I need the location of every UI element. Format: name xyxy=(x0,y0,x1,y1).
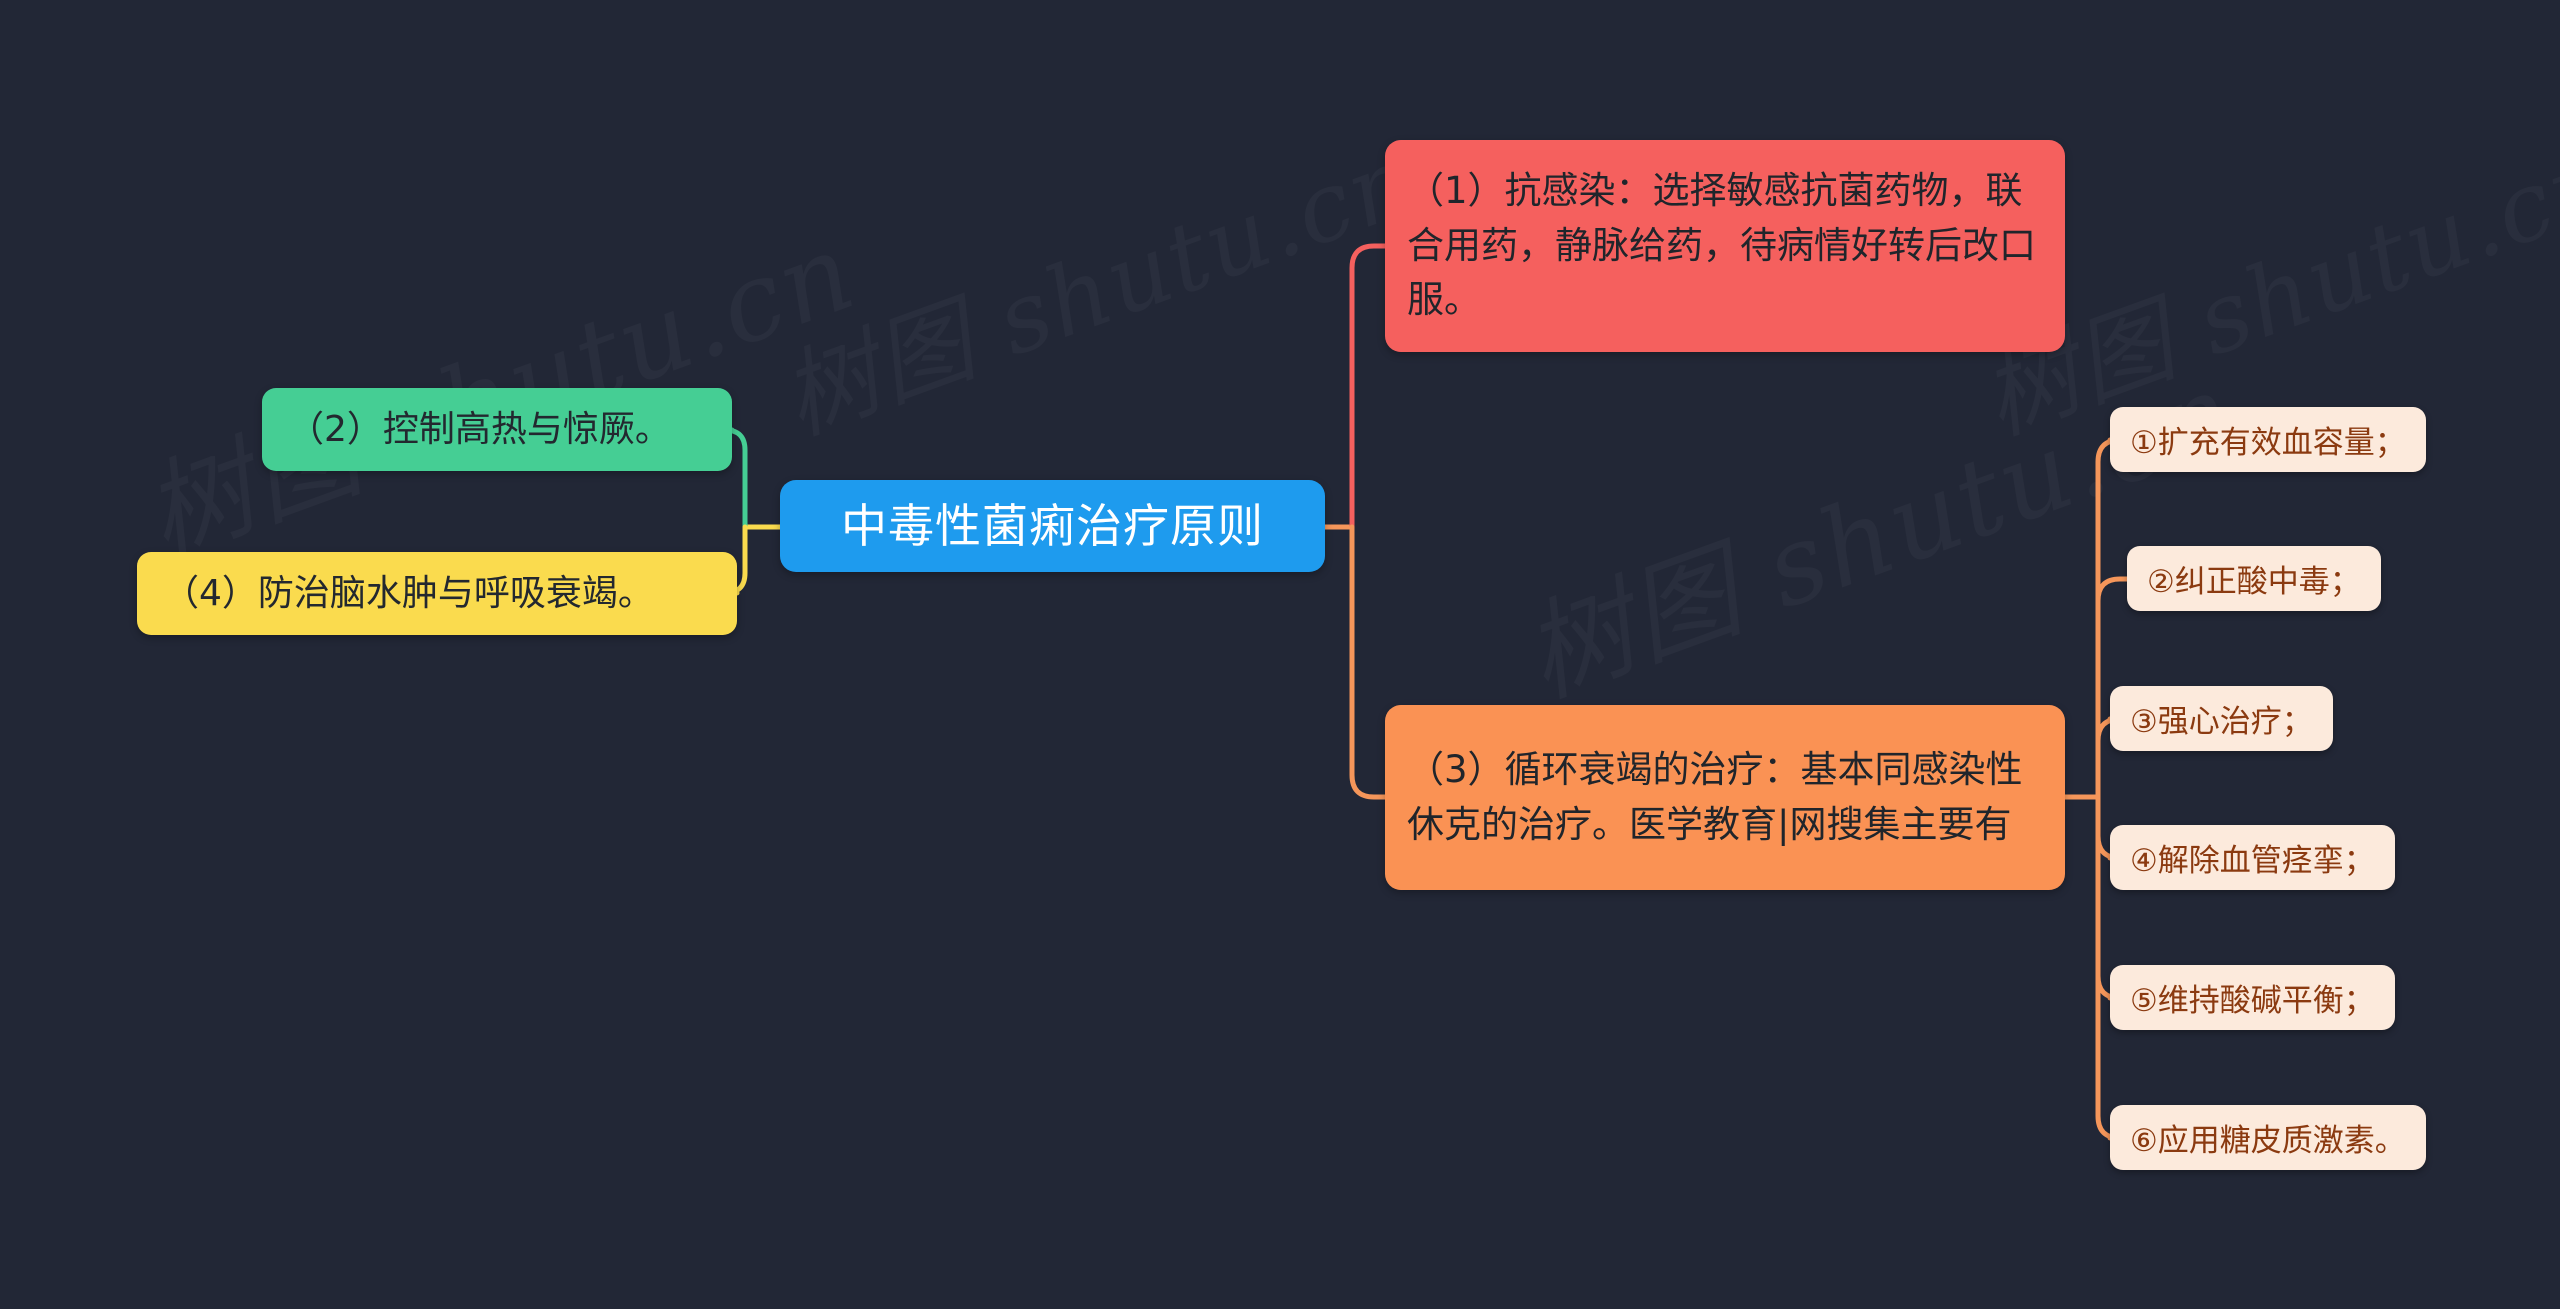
branch-label-3: （3）循环衰竭的治疗：基本同感染性休克的治疗。医学教育|网搜集主要有 xyxy=(1407,743,2043,853)
connector-red xyxy=(1352,246,1385,527)
leaf-label-1: ①扩充有效血容量； xyxy=(2130,417,2406,462)
mindmap-leaf-node-5[interactable]: ⑤维持酸碱平衡； xyxy=(2110,965,2395,1030)
mindmap-leaf-node-4[interactable]: ④解除血管痉挛； xyxy=(2110,825,2395,890)
mindmap-leaf-node-1[interactable]: ①扩充有效血容量； xyxy=(2110,407,2426,472)
watermark: 树图 shutu.cn xyxy=(760,103,1431,461)
mindmap-branch-node-2[interactable]: （2）控制高热与惊厥。 xyxy=(262,388,732,471)
branch-label-4: （4）防治脑水肿与呼吸衰竭。 xyxy=(163,567,654,620)
branch-label-2: （2）控制高热与惊厥。 xyxy=(288,403,671,456)
watermark: 树图 shutu.cn xyxy=(1500,325,2253,726)
mindmap-leaf-node-6[interactable]: ⑥应用糖皮质激素。 xyxy=(2110,1105,2426,1170)
root-label: 中毒性菌痢治疗原则 xyxy=(780,492,1325,560)
connector-orange xyxy=(1352,527,1385,797)
leaf-label-5: ⑤维持酸碱平衡； xyxy=(2130,975,2375,1020)
leaf-label-6: ⑥应用糖皮质激素。 xyxy=(2130,1115,2406,1160)
branch-label-1: （1）抗感染：选择敏感抗菌药物，联合用药，静脉给药，待病情好转后改口服。 xyxy=(1407,164,2043,328)
mindmap-branch-node-4[interactable]: （4）防治脑水肿与呼吸衰竭。 xyxy=(137,552,737,635)
mindmap-leaf-node-2[interactable]: ②纠正酸中毒； xyxy=(2127,546,2381,611)
mindmap-root-node[interactable]: 中毒性菌痢治疗原则 xyxy=(780,480,1325,572)
leaf-label-4: ④解除血管痉挛； xyxy=(2130,835,2375,880)
mindmap-leaf-node-3[interactable]: ③强心治疗； xyxy=(2110,686,2333,751)
mindmap-branch-node-1[interactable]: （1）抗感染：选择敏感抗菌药物，联合用药，静脉给药，待病情好转后改口服。 xyxy=(1385,140,2065,352)
leaf-label-3: ③强心治疗； xyxy=(2130,696,2313,741)
mindmap-canvas: 树图 shutu.cn 树图 shutu.cn 树图 shutu.cn 树图 s… xyxy=(0,0,2560,1309)
watermark: 树图 shutu.cn xyxy=(120,185,873,586)
mindmap-branch-node-3[interactable]: （3）循环衰竭的治疗：基本同感染性休克的治疗。医学教育|网搜集主要有 xyxy=(1385,705,2065,890)
leaf-label-2: ②纠正酸中毒； xyxy=(2147,556,2361,601)
